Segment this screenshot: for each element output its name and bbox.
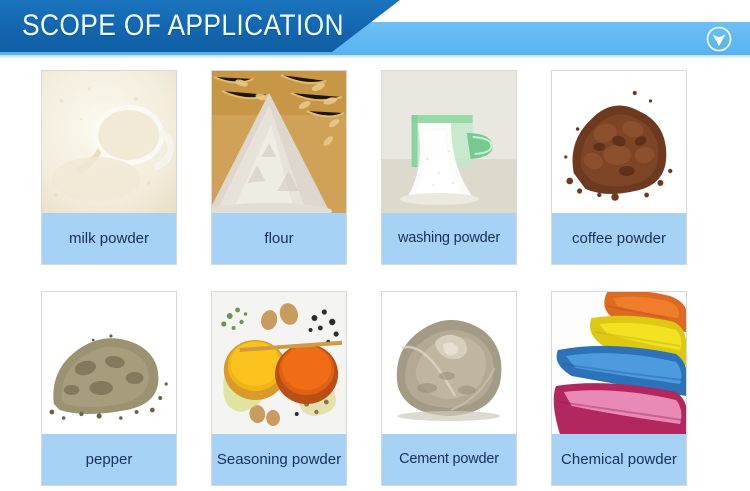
- header-underline: [0, 55, 750, 58]
- card-label: Cement powder: [382, 434, 516, 485]
- card-label: Seasoning powder: [212, 434, 346, 485]
- cement-powder-photo: [382, 292, 516, 434]
- washing-powder-photo: [382, 71, 516, 213]
- application-card[interactable]: pepper: [41, 291, 177, 486]
- application-card[interactable]: milk powder: [41, 70, 177, 265]
- card-label: pepper: [42, 434, 176, 485]
- application-card[interactable]: Chemical powder: [551, 291, 687, 486]
- card-row: pepper: [41, 291, 750, 491]
- card-label: Chemical powder: [552, 434, 686, 485]
- seasoning-powder-photo: [212, 292, 346, 434]
- application-card[interactable]: Cement powder: [381, 291, 517, 486]
- card-label: coffee powder: [552, 213, 686, 264]
- page-header: SCOPE OF APPLICATION: [0, 0, 750, 62]
- pepper-photo: [42, 292, 176, 434]
- card-row: milk powder: [41, 70, 750, 270]
- application-card[interactable]: washing powder: [381, 70, 517, 265]
- application-card[interactable]: coffee powder: [551, 70, 687, 265]
- application-scope-grid: milk powder: [0, 62, 750, 481]
- application-card[interactable]: flour: [211, 70, 347, 265]
- flour-photo: [212, 71, 346, 213]
- card-label: milk powder: [42, 213, 176, 264]
- milk-powder-photo: [42, 71, 176, 213]
- card-label: flour: [212, 213, 346, 264]
- coffee-powder-photo: [552, 71, 686, 213]
- chevron-down-circle-icon: [706, 26, 732, 52]
- chemical-powder-photo: [552, 292, 686, 434]
- application-card[interactable]: Seasoning powder: [211, 291, 347, 486]
- page-title: SCOPE OF APPLICATION: [22, 9, 344, 43]
- card-label: washing powder: [382, 213, 516, 264]
